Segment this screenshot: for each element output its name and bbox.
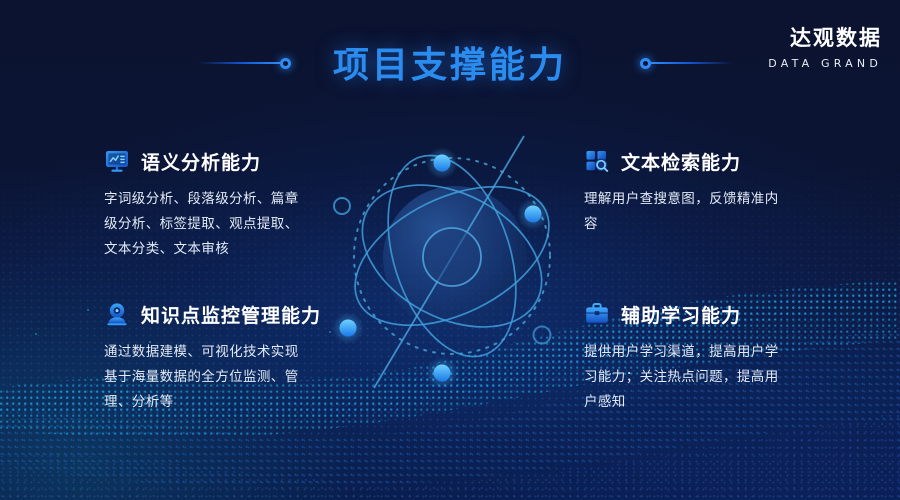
feature-description: 提供用户学习渠道，提高用户学习能力；关注热点问题，提高用户感知 [584, 340, 784, 415]
decoration-circle-icon [640, 58, 651, 69]
feature-card-header: 知识点监控管理能力 [104, 299, 404, 329]
brand-logo: 达观数据 DATA GRAND [768, 26, 882, 70]
search-blocks-icon [584, 148, 610, 174]
briefcase-icon [584, 301, 610, 327]
feature-card-header: 文本检索能力 [584, 146, 884, 176]
page-title: 项目支撑能力 [0, 36, 900, 88]
feature-card-knowledge-monitoring[interactable]: 知识点监控管理能力 通过数据建模、可视化技术实现基于海量数据的全方位监测、管理、… [104, 299, 404, 415]
feature-title: 辅助学习能力 [621, 301, 741, 328]
feature-description: 通过数据建模、可视化技术实现基于海量数据的全方位监测、管理、分析等 [104, 340, 300, 415]
feature-card-header: 语义分析能力 [104, 146, 404, 176]
feature-description: 字词级分析、段落级分析、篇章级分析、标签提取、观点提取、文本分类、文本审核 [104, 187, 300, 262]
logo-english-text: DATA GRAND [768, 57, 882, 70]
feature-title: 知识点监控管理能力 [141, 301, 321, 328]
feature-title: 文本检索能力 [621, 148, 741, 175]
decoration-line-icon [651, 62, 733, 64]
chart-board-icon [104, 148, 130, 174]
feature-card-assisted-learning[interactable]: 辅助学习能力 提供用户学习渠道，提高用户学习能力；关注热点问题，提高用户感知 [584, 299, 884, 415]
logo-chinese-text: 达观数据 [768, 26, 882, 51]
slide-header: 项目支撑能力 达观数据 DATA GRAND [0, 0, 900, 110]
monitor-camera-icon [104, 301, 130, 327]
feature-card-semantic-analysis[interactable]: 语义分析能力 字词级分析、段落级分析、篇章级分析、标签提取、观点提取、文本分类、… [104, 146, 404, 262]
feature-card-header: 辅助学习能力 [584, 299, 884, 329]
feature-card-text-retrieval[interactable]: 文本检索能力 理解用户查搜意图，反馈精准内容 [584, 146, 884, 237]
feature-title: 语义分析能力 [141, 148, 261, 175]
title-decoration-right [640, 57, 733, 69]
feature-description: 理解用户查搜意图，反馈精准内容 [584, 187, 784, 237]
slide-canvas: 项目支撑能力 达观数据 DATA GRAND [0, 0, 900, 500]
